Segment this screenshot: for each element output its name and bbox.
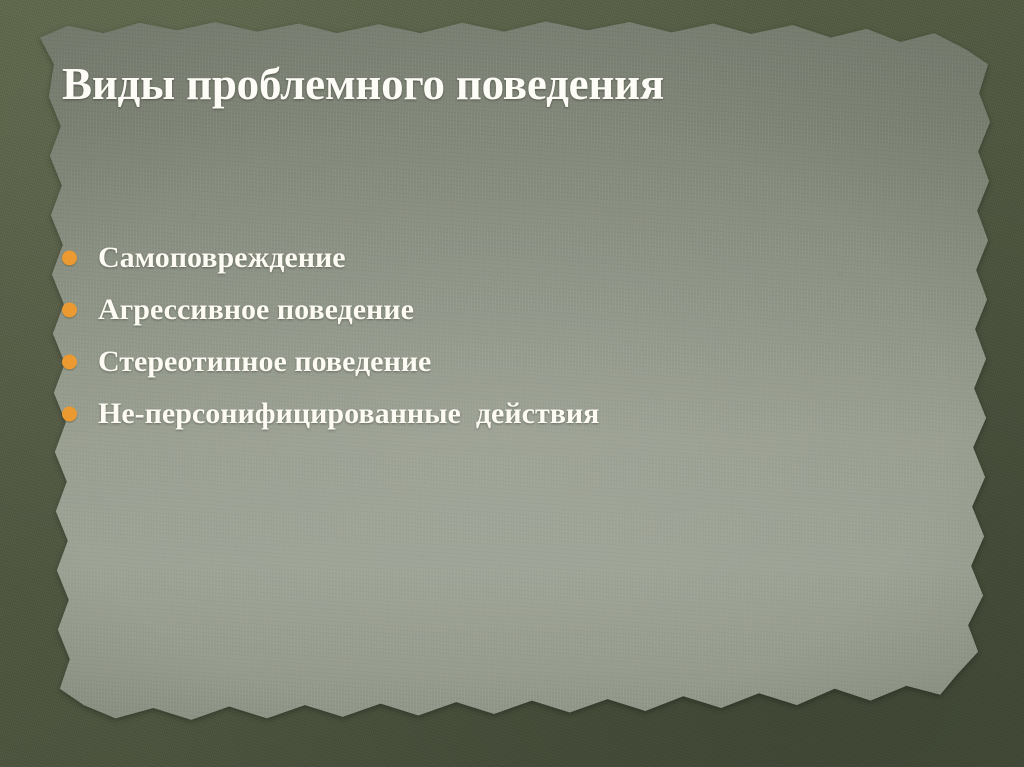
bullet-dot-icon <box>62 355 77 370</box>
list-item-label: Стереотипное поведение <box>98 345 431 379</box>
list-item: Стереотипное поведение <box>54 336 974 388</box>
list-item-label: Агрессивное поведение <box>98 293 414 327</box>
slide-content: Виды проблемного поведения Самоповрежден… <box>0 0 1024 767</box>
list-item-label: Самоповреждение <box>98 241 346 275</box>
bullet-dot-icon <box>62 407 77 422</box>
presentation-slide: Виды проблемного поведения Самоповрежден… <box>0 0 1024 767</box>
list-item-label: Не-персонифицированные действия <box>98 397 599 431</box>
bullet-dot-icon <box>62 251 77 266</box>
slide-title: Виды проблемного поведения <box>62 58 962 110</box>
bullet-dot-icon <box>62 303 77 318</box>
list-item: Самоповреждение <box>54 232 974 284</box>
list-item: Агрессивное поведение <box>54 284 974 336</box>
bullet-list: Самоповреждение Агрессивное поведение Ст… <box>54 232 974 440</box>
list-item: Не-персонифицированные действия <box>54 388 974 440</box>
